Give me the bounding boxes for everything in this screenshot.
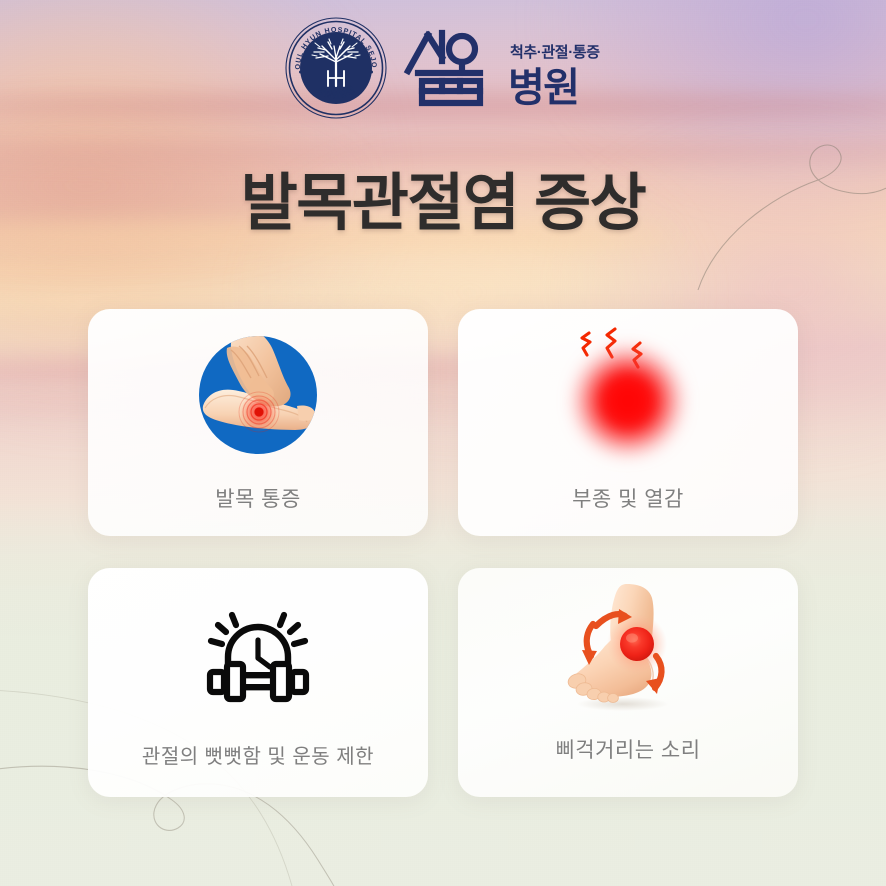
card-caption: 발목 통증 (215, 483, 301, 513)
heat-wave-1 (582, 333, 590, 355)
page-title: 발목관절염 증상 (0, 152, 886, 242)
symptom-card-creaking-sound[interactable]: 삐걱거리는 소리 (458, 568, 798, 797)
card-art (88, 319, 428, 471)
wordmark-tagline: 척추·관절·통증 (510, 44, 600, 61)
dumbbell-clock-icon (202, 603, 314, 711)
card-art (88, 582, 428, 732)
card-caption: 부종 및 열감 (572, 483, 684, 513)
foot-rotation-arrows-icon (553, 578, 703, 726)
card-caption: 삐걱거리는 소리 (555, 734, 700, 764)
symptom-card-joint-stiffness[interactable]: 관절의 뻣뻣함 및 운동 제한 (88, 568, 428, 797)
card-art (458, 319, 798, 471)
foot-ankle-pain-icon (197, 334, 319, 456)
brand-logo: SEOUL HYUN HOSPITAL SEJONG 서울현병원 (0, 16, 886, 120)
card-caption: 관절의 뻣뻣함 및 운동 제한 (142, 740, 374, 769)
symptom-card-grid: 발목 통증 부종 및 열감 (88, 309, 798, 797)
wordmark-name: 병원 (508, 66, 579, 109)
card-art (458, 574, 798, 730)
symptom-card-ankle-pain[interactable]: 발목 통증 (88, 309, 428, 536)
heat-glow-core (600, 373, 656, 429)
red-heat-glow-icon (548, 319, 708, 471)
tree-emblem-icon: SEOUL HYUN HOSPITAL SEJONG 서울현병원 (284, 16, 388, 120)
brand-wordmark: 척추·관절·통증 병원 (402, 27, 602, 109)
symptom-card-swelling-heat[interactable]: 부종 및 열감 (458, 309, 798, 536)
